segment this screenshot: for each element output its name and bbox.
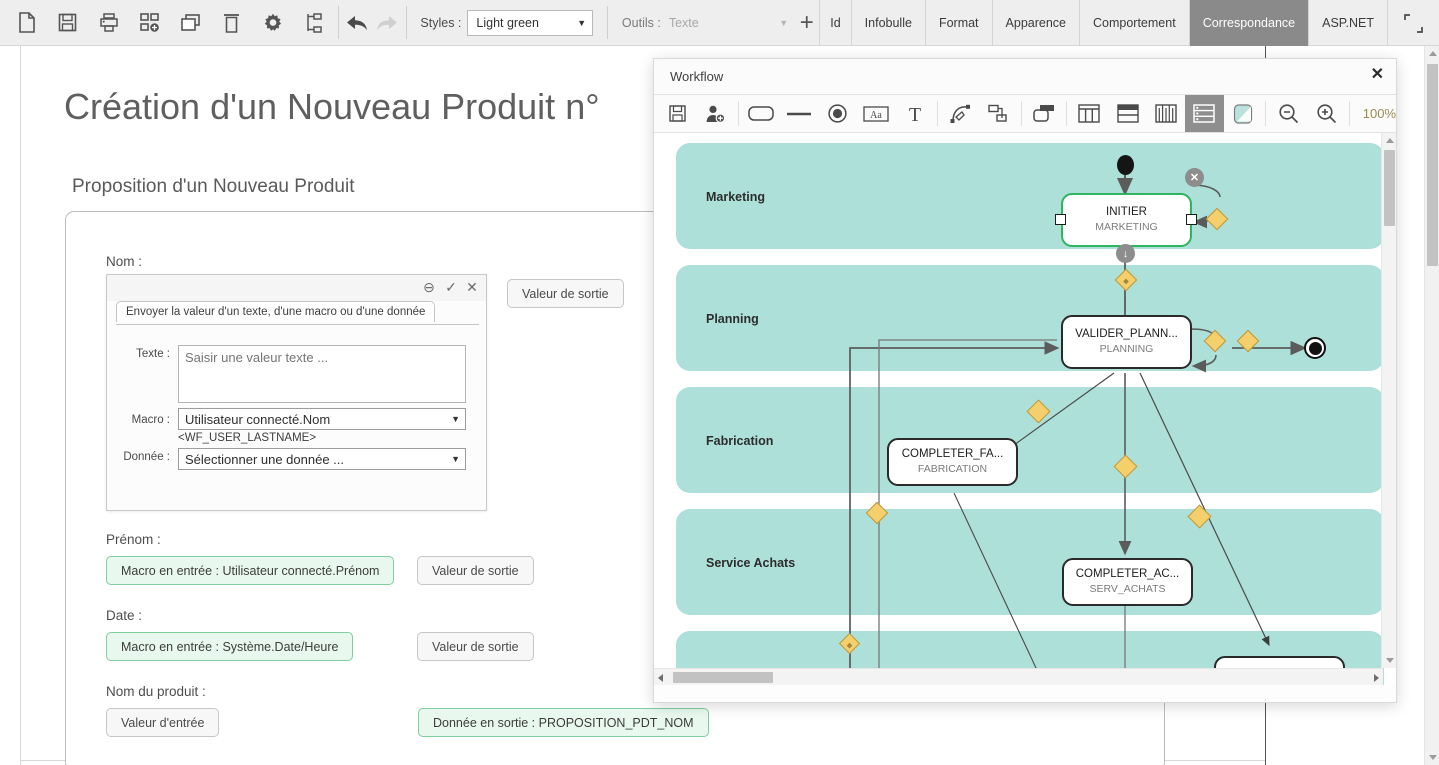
- circle-shape-icon[interactable]: [819, 95, 857, 132]
- workflow-window-title: Workflow: [654, 69, 723, 84]
- validate-icon[interactable]: ✓: [442, 279, 460, 296]
- svg-text:Aa: Aa: [870, 110, 882, 121]
- main-toolbar: Styles : Light green ▼ Outils : Texte ▼ …: [0, 0, 1439, 46]
- wf-divider-2: [937, 101, 938, 126]
- minimize-icon[interactable]: ⊖: [420, 279, 438, 296]
- chevron-down-icon: ▼: [451, 454, 460, 464]
- workflow-toolbar: Aa T: [654, 95, 1396, 133]
- popup-macro-select[interactable]: Utilisateur connecté.Nom ▼: [178, 408, 466, 430]
- close-icon[interactable]: ✕: [463, 279, 481, 296]
- end-node[interactable]: [1304, 337, 1326, 359]
- outils-label: Outils :: [612, 0, 667, 45]
- swimlane-rows-icon[interactable]: [1185, 95, 1223, 132]
- zoom-in-icon[interactable]: [1307, 95, 1345, 132]
- swimlane-label-planning: Planning: [706, 312, 759, 326]
- tab-format[interactable]: Format: [925, 0, 992, 46]
- scroll-right-icon[interactable]: [1374, 674, 1379, 682]
- toolbar-icon-group: [0, 0, 334, 45]
- field-label-prenom: Prénom :: [106, 532, 161, 547]
- field-label-nom-produit: Nom du produit :: [106, 684, 206, 699]
- popup-macro-value: Utilisateur connecté.Nom: [185, 412, 330, 427]
- delete-node-badge[interactable]: ✕: [1185, 168, 1204, 187]
- styles-select[interactable]: Light green ▼: [467, 10, 593, 36]
- rows-layout-icon[interactable]: [1108, 95, 1146, 132]
- swimlane-label-fabrication: Fabrication: [706, 434, 773, 448]
- popup-donnee-label: Donnée :: [118, 451, 170, 463]
- columns-layout-icon[interactable]: [1070, 95, 1108, 132]
- tab-correspondance[interactable]: Correspondance: [1189, 0, 1308, 46]
- tab-comportement[interactable]: Comportement: [1079, 0, 1189, 46]
- swimlane-fabrication[interactable]: [676, 387, 1384, 493]
- section-title: Proposition d'un Nouveau Produit: [72, 176, 354, 198]
- zoom-out-icon[interactable]: [1269, 95, 1307, 132]
- outils-select[interactable]: Texte ▼: [667, 10, 794, 36]
- svg-text:T: T: [909, 104, 921, 124]
- popup-donnee-value: Sélectionner une donnée ...: [185, 452, 344, 467]
- popup-header: ⊖ ✓ ✕: [107, 275, 486, 301]
- settings-icon[interactable]: [252, 1, 293, 45]
- redo-icon[interactable]: [372, 0, 401, 44]
- popup-texte-label: Texte :: [118, 348, 170, 360]
- outils-select-value: Texte: [669, 16, 699, 30]
- popup-macro-label: Macro :: [118, 414, 170, 426]
- group-shape-icon[interactable]: [1025, 95, 1063, 132]
- node-handle-left[interactable]: [1055, 214, 1066, 225]
- nom-produit-input-button[interactable]: Valeur d'entrée: [106, 708, 219, 737]
- tab-aspnet[interactable]: ASP.NET: [1308, 0, 1387, 46]
- new-document-icon[interactable]: [6, 1, 47, 45]
- add-block-icon[interactable]: [129, 1, 170, 45]
- scroll-down-icon[interactable]: [1382, 653, 1396, 668]
- popup-tabstrip: Envoyer la valeur d'un texte, d'une macr…: [116, 301, 479, 325]
- wf-divider-3: [1021, 101, 1022, 126]
- field-label-date: Date :: [106, 608, 142, 623]
- add-tool-button[interactable]: +: [794, 0, 819, 45]
- page-scrollbar[interactable]: [1424, 46, 1439, 765]
- popup-tab-envoyer-valeur[interactable]: Envoyer la valeur d'un texte, d'une macr…: [116, 301, 435, 322]
- label-aa-icon[interactable]: Aa: [857, 95, 895, 132]
- save-icon[interactable]: [47, 1, 88, 45]
- line-shape-icon[interactable]: [780, 95, 818, 132]
- wf-divider-6: [1349, 101, 1350, 126]
- node-valider-planning[interactable]: VALIDER_PLANN... PLANNING: [1061, 315, 1192, 369]
- node-fab-sub: FABRICATION: [918, 464, 987, 476]
- scroll-down-icon[interactable]: [1425, 750, 1439, 765]
- start-node[interactable]: [1117, 155, 1134, 175]
- chevron-down-icon: ▼: [779, 18, 788, 28]
- workflow-hscroll-thumb[interactable]: [673, 672, 773, 683]
- nom-produit-output-chip[interactable]: Donnée en sortie : PROPOSITION_PDT_NOM: [418, 708, 709, 737]
- add-user-icon[interactable]: [696, 95, 734, 132]
- swimlane-label-marketing: Marketing: [706, 190, 765, 204]
- styles-label: Styles :: [410, 0, 467, 45]
- popup-macro-hint: <WF_USER_LASTNAME>: [178, 432, 316, 444]
- pen-path-icon[interactable]: [941, 95, 979, 132]
- scroll-up-icon[interactable]: [1382, 133, 1396, 148]
- styles-select-value: Light green: [476, 16, 539, 30]
- prenom-input-chip[interactable]: Macro en entrée : Utilisateur connecté.P…: [106, 556, 394, 585]
- workflow-vertical-scrollbar[interactable]: [1381, 133, 1396, 668]
- wf-divider-5: [1265, 101, 1266, 126]
- swimlane-label-service-achats: Service Achats: [706, 556, 795, 570]
- workflow-vscroll-thumb[interactable]: [1384, 150, 1395, 226]
- page-title: Création d'un Nouveau Produit n°: [64, 86, 600, 128]
- rounded-rect-shape-icon[interactable]: [742, 95, 780, 132]
- node-completer-fabrication[interactable]: COMPLETER_FA... FABRICATION: [887, 438, 1018, 486]
- scroll-left-icon[interactable]: [658, 674, 663, 682]
- property-tabs: Id Infobulle Format Apparence Comporteme…: [819, 0, 1439, 46]
- close-icon[interactable]: ✕: [1371, 67, 1384, 83]
- add-below-badge[interactable]: ↓: [1116, 244, 1135, 263]
- popup-donnee-select[interactable]: Sélectionner une donnée ... ▼: [178, 448, 466, 470]
- toolbar-divider-2: [406, 6, 407, 39]
- application-root: Styles : Light green ▼ Outils : Texte ▼ …: [0, 0, 1439, 765]
- node-valider-sub: PLANNING: [1100, 344, 1154, 356]
- node-valider-name: VALIDER_PLANN...: [1075, 328, 1178, 341]
- print-icon[interactable]: [88, 1, 129, 45]
- tab-infobulle[interactable]: Infobulle: [851, 0, 925, 46]
- chevron-down-icon: ▼: [577, 18, 586, 28]
- prenom-output-button[interactable]: Valeur de sortie: [417, 556, 534, 585]
- wf-divider-1: [738, 101, 739, 126]
- expand-icon[interactable]: [1387, 0, 1439, 46]
- fill-color-icon[interactable]: [1224, 95, 1262, 132]
- scroll-up-icon[interactable]: [1425, 46, 1439, 61]
- duplicate-icon[interactable]: [170, 1, 211, 45]
- swimlane-marketing[interactable]: [676, 143, 1384, 249]
- tab-id[interactable]: Id: [819, 0, 850, 46]
- node-completer-achats[interactable]: COMPLETER_AC... SERV_ACHATS: [1062, 558, 1193, 606]
- hierarchy-icon[interactable]: [293, 1, 334, 45]
- page-left-border: [20, 46, 21, 765]
- field-label-nom: Nom :: [106, 254, 142, 269]
- zoom-level-label: 100%: [1353, 95, 1396, 132]
- workflow-window: Workflow ✕ Aa T: [653, 58, 1397, 703]
- chevron-down-icon: ▼: [451, 414, 460, 424]
- date-input-chip[interactable]: Macro en entrée : Système.Date/Heure: [106, 632, 353, 661]
- text-t-icon[interactable]: T: [895, 95, 933, 132]
- node-handle-right[interactable]: [1186, 214, 1197, 225]
- node-fab-name: COMPLETER_FA...: [902, 448, 1004, 461]
- three-columns-icon[interactable]: [1147, 95, 1185, 132]
- wf-divider-4: [1066, 101, 1067, 126]
- tab-apparence[interactable]: Apparence: [992, 0, 1079, 46]
- toolbar-divider-3: [607, 6, 608, 39]
- delete-icon[interactable]: [211, 1, 252, 45]
- swimlane-planning[interactable]: [676, 265, 1384, 371]
- workflow-canvas[interactable]: Marketing Planning Fabrication Service A…: [654, 133, 1396, 685]
- popup-texte-input[interactable]: [178, 345, 466, 403]
- node-ac-sub: SERV_ACHATS: [1089, 584, 1165, 596]
- node-ac-name: COMPLETER_AC...: [1076, 568, 1180, 581]
- save-icon[interactable]: [658, 95, 696, 132]
- date-output-button[interactable]: Valeur de sortie: [417, 632, 534, 661]
- node-initier-sub: MARKETING: [1095, 222, 1157, 234]
- nom-output-button[interactable]: Valeur de sortie: [507, 279, 624, 308]
- page-scroll-thumb[interactable]: [1427, 64, 1438, 266]
- workflow-titlebar[interactable]: Workflow ✕: [654, 59, 1396, 95]
- workflow-horizontal-scrollbar[interactable]: [654, 668, 1383, 685]
- toolbar-divider-1: [338, 6, 339, 39]
- undo-icon[interactable]: [343, 0, 372, 44]
- node-initier[interactable]: INITIER MARKETING: [1061, 193, 1192, 247]
- connector-icon[interactable]: [979, 95, 1017, 132]
- node-initier-name: INITIER: [1106, 206, 1147, 219]
